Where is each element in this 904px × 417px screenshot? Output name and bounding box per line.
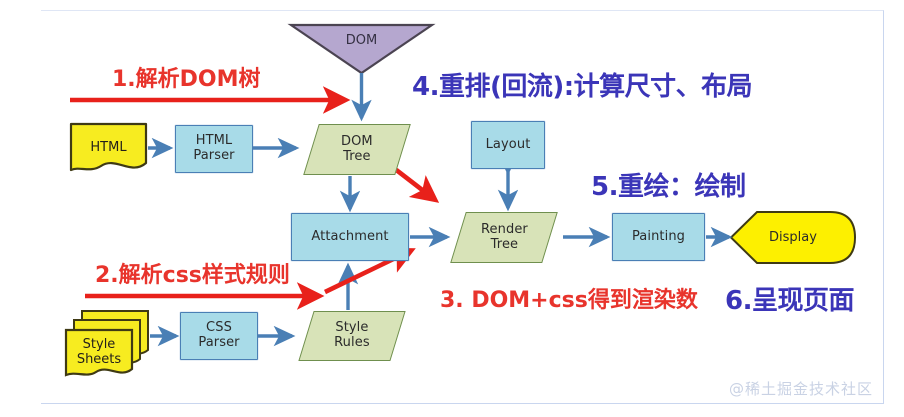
node-style-sheets[interactable]: Style Sheets xyxy=(66,330,132,375)
node-display-label: Display xyxy=(731,212,855,263)
node-css-parser[interactable]: CSS Parser xyxy=(180,312,258,360)
annotation-step3: 3. DOM+css得到渲染数 xyxy=(440,282,698,314)
node-dom-source[interactable]: DOM xyxy=(291,25,432,73)
node-css-parser-label: CSS Parser xyxy=(198,321,239,350)
node-attachment-label: Attachment xyxy=(311,230,388,245)
annotation-step5: 5.重绘：绘制 xyxy=(591,166,745,203)
annotation-step2: 2.解析css样式规则 xyxy=(95,257,290,289)
node-render-tree-label: Render Tree xyxy=(481,223,528,252)
node-html-document-label: HTML xyxy=(71,124,146,172)
annotation-step6: 6.呈现页面 xyxy=(725,280,854,317)
node-display[interactable]: Display xyxy=(731,212,855,263)
node-render-tree[interactable]: Render Tree xyxy=(450,212,558,263)
node-html-parser[interactable]: HTML Parser xyxy=(175,125,253,173)
node-painting[interactable]: Painting xyxy=(612,213,705,261)
node-dom-source-label: DOM xyxy=(291,33,432,48)
node-painting-label: Painting xyxy=(632,230,685,245)
node-html-parser-label: HTML Parser xyxy=(193,134,234,163)
diagram-canvas: DOM HTML HTML Parser DOM Tree Layout Att… xyxy=(0,0,904,417)
node-style-sheets-label: Style Sheets xyxy=(66,330,132,375)
watermark: @稀土掘金技术社区 xyxy=(729,378,873,399)
node-dom-tree[interactable]: DOM Tree xyxy=(303,124,411,175)
node-html-document[interactable]: HTML xyxy=(71,124,146,172)
node-layout[interactable]: Layout xyxy=(471,121,545,169)
node-dom-tree-label: DOM Tree xyxy=(341,135,373,164)
node-style-rules[interactable]: Style Rules xyxy=(298,311,405,361)
node-layout-label: Layout xyxy=(486,138,531,153)
annotation-step4: 4.重排(回流):计算尺寸、布局 xyxy=(412,66,752,103)
node-style-rules-label: Style Rules xyxy=(334,321,370,350)
node-attachment[interactable]: Attachment xyxy=(291,213,409,261)
annotation-step1: 1.解析DOM树 xyxy=(112,61,261,93)
